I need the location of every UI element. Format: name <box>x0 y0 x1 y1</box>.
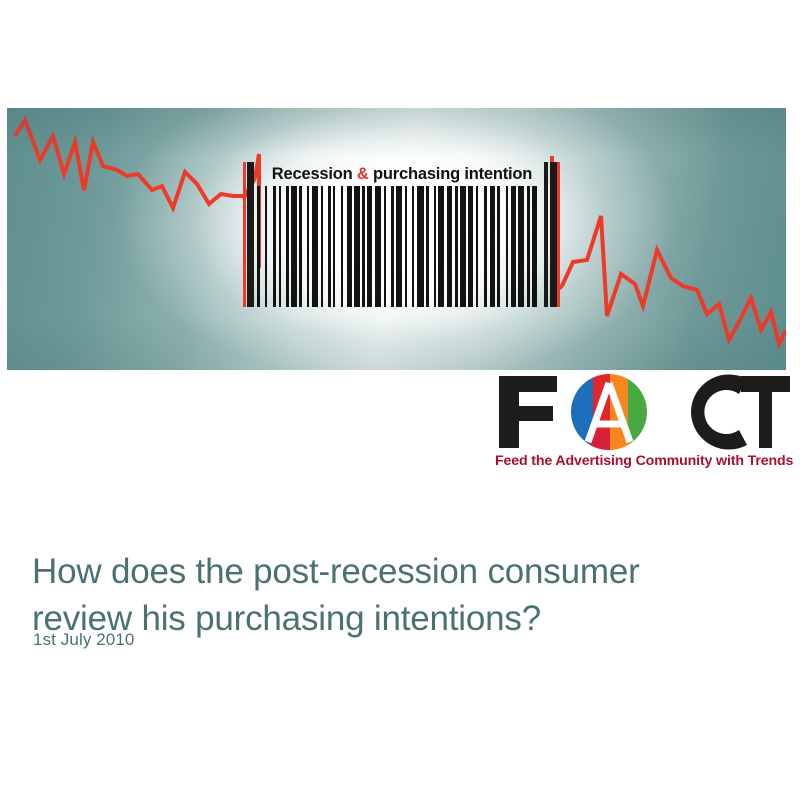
logo-circle-a-icon <box>571 374 647 450</box>
barcode-bar <box>405 186 407 307</box>
barcode-bar <box>354 186 360 307</box>
barcode-bar <box>291 186 297 307</box>
barcode-bar <box>396 186 402 307</box>
barcode-bar <box>438 186 444 307</box>
fact-logo: Feed the Advertising Community with Tren… <box>495 374 790 476</box>
barcode-bar <box>273 186 275 307</box>
barcode-bar <box>417 186 423 307</box>
barcode-bar <box>307 186 309 307</box>
barcode-bar <box>434 186 436 307</box>
trend-line-left <box>15 120 255 208</box>
barcode-bar <box>460 186 466 307</box>
logo-letter-f-icon <box>499 376 557 448</box>
barcode-guard-bar-left <box>247 162 254 307</box>
barcode-bar <box>328 186 331 307</box>
barcode-caption-prefix: Recession <box>272 165 357 183</box>
barcode-graphic: Recession & purchasing intention <box>243 162 561 307</box>
barcode-bar <box>384 186 386 307</box>
barcode-caption-suffix: purchasing intention <box>369 165 533 183</box>
barcode-bar-field <box>257 186 543 307</box>
barcode-bar <box>527 186 530 307</box>
page-title: How does the post-recession consumer rev… <box>32 548 752 642</box>
barcode-bar <box>497 186 500 307</box>
barcode-bar <box>391 186 394 307</box>
logo-letter-c-icon <box>691 374 747 449</box>
fact-logo-mark <box>495 374 790 450</box>
barcode-guard-bar-right <box>550 162 557 307</box>
barcode-bar <box>412 186 414 307</box>
barcode-bar <box>367 186 372 307</box>
barcode-bar <box>426 186 429 307</box>
barcode-bar <box>279 186 281 307</box>
barcode-bar <box>312 186 318 307</box>
barcode-bar <box>299 186 302 307</box>
page-date: 1st July 2010 <box>33 630 134 650</box>
barcode-bar <box>511 186 516 307</box>
barcode-red-guard-right <box>557 162 560 307</box>
barcode-bar <box>286 186 289 307</box>
barcode-bar <box>333 186 335 307</box>
barcode-bar <box>375 186 381 307</box>
barcode-bar <box>506 186 508 307</box>
barcode-bar <box>447 186 452 307</box>
barcode-bar <box>321 186 323 307</box>
barcode-bar <box>484 186 487 307</box>
barcode-bar <box>468 186 473 307</box>
fact-logo-tagline: Feed the Advertising Community with Tren… <box>495 453 790 469</box>
barcode-bar <box>476 186 478 307</box>
barcode-bar <box>518 186 524 307</box>
barcode-bar <box>532 186 537 307</box>
barcode-bar <box>362 186 365 307</box>
barcode-bar <box>265 186 267 307</box>
barcode-bar <box>347 186 352 307</box>
logo-letter-t-icon <box>741 376 790 448</box>
page-title-line-2: review his purchasing intentions? <box>32 595 752 642</box>
barcode-bar <box>341 186 343 307</box>
trend-line-right <box>562 216 786 344</box>
barcode-red-guard-left <box>243 162 246 307</box>
page-title-line-1: How does the post-recession consumer <box>32 552 640 591</box>
barcode-caption-ampersand: & <box>357 165 369 183</box>
barcode-caption: Recession & purchasing intention <box>259 164 545 184</box>
barcode-bar <box>257 186 260 307</box>
barcode-bar <box>455 186 458 307</box>
barcode-guard-bar-right-inner <box>544 162 548 307</box>
barcode-bar <box>490 186 495 307</box>
